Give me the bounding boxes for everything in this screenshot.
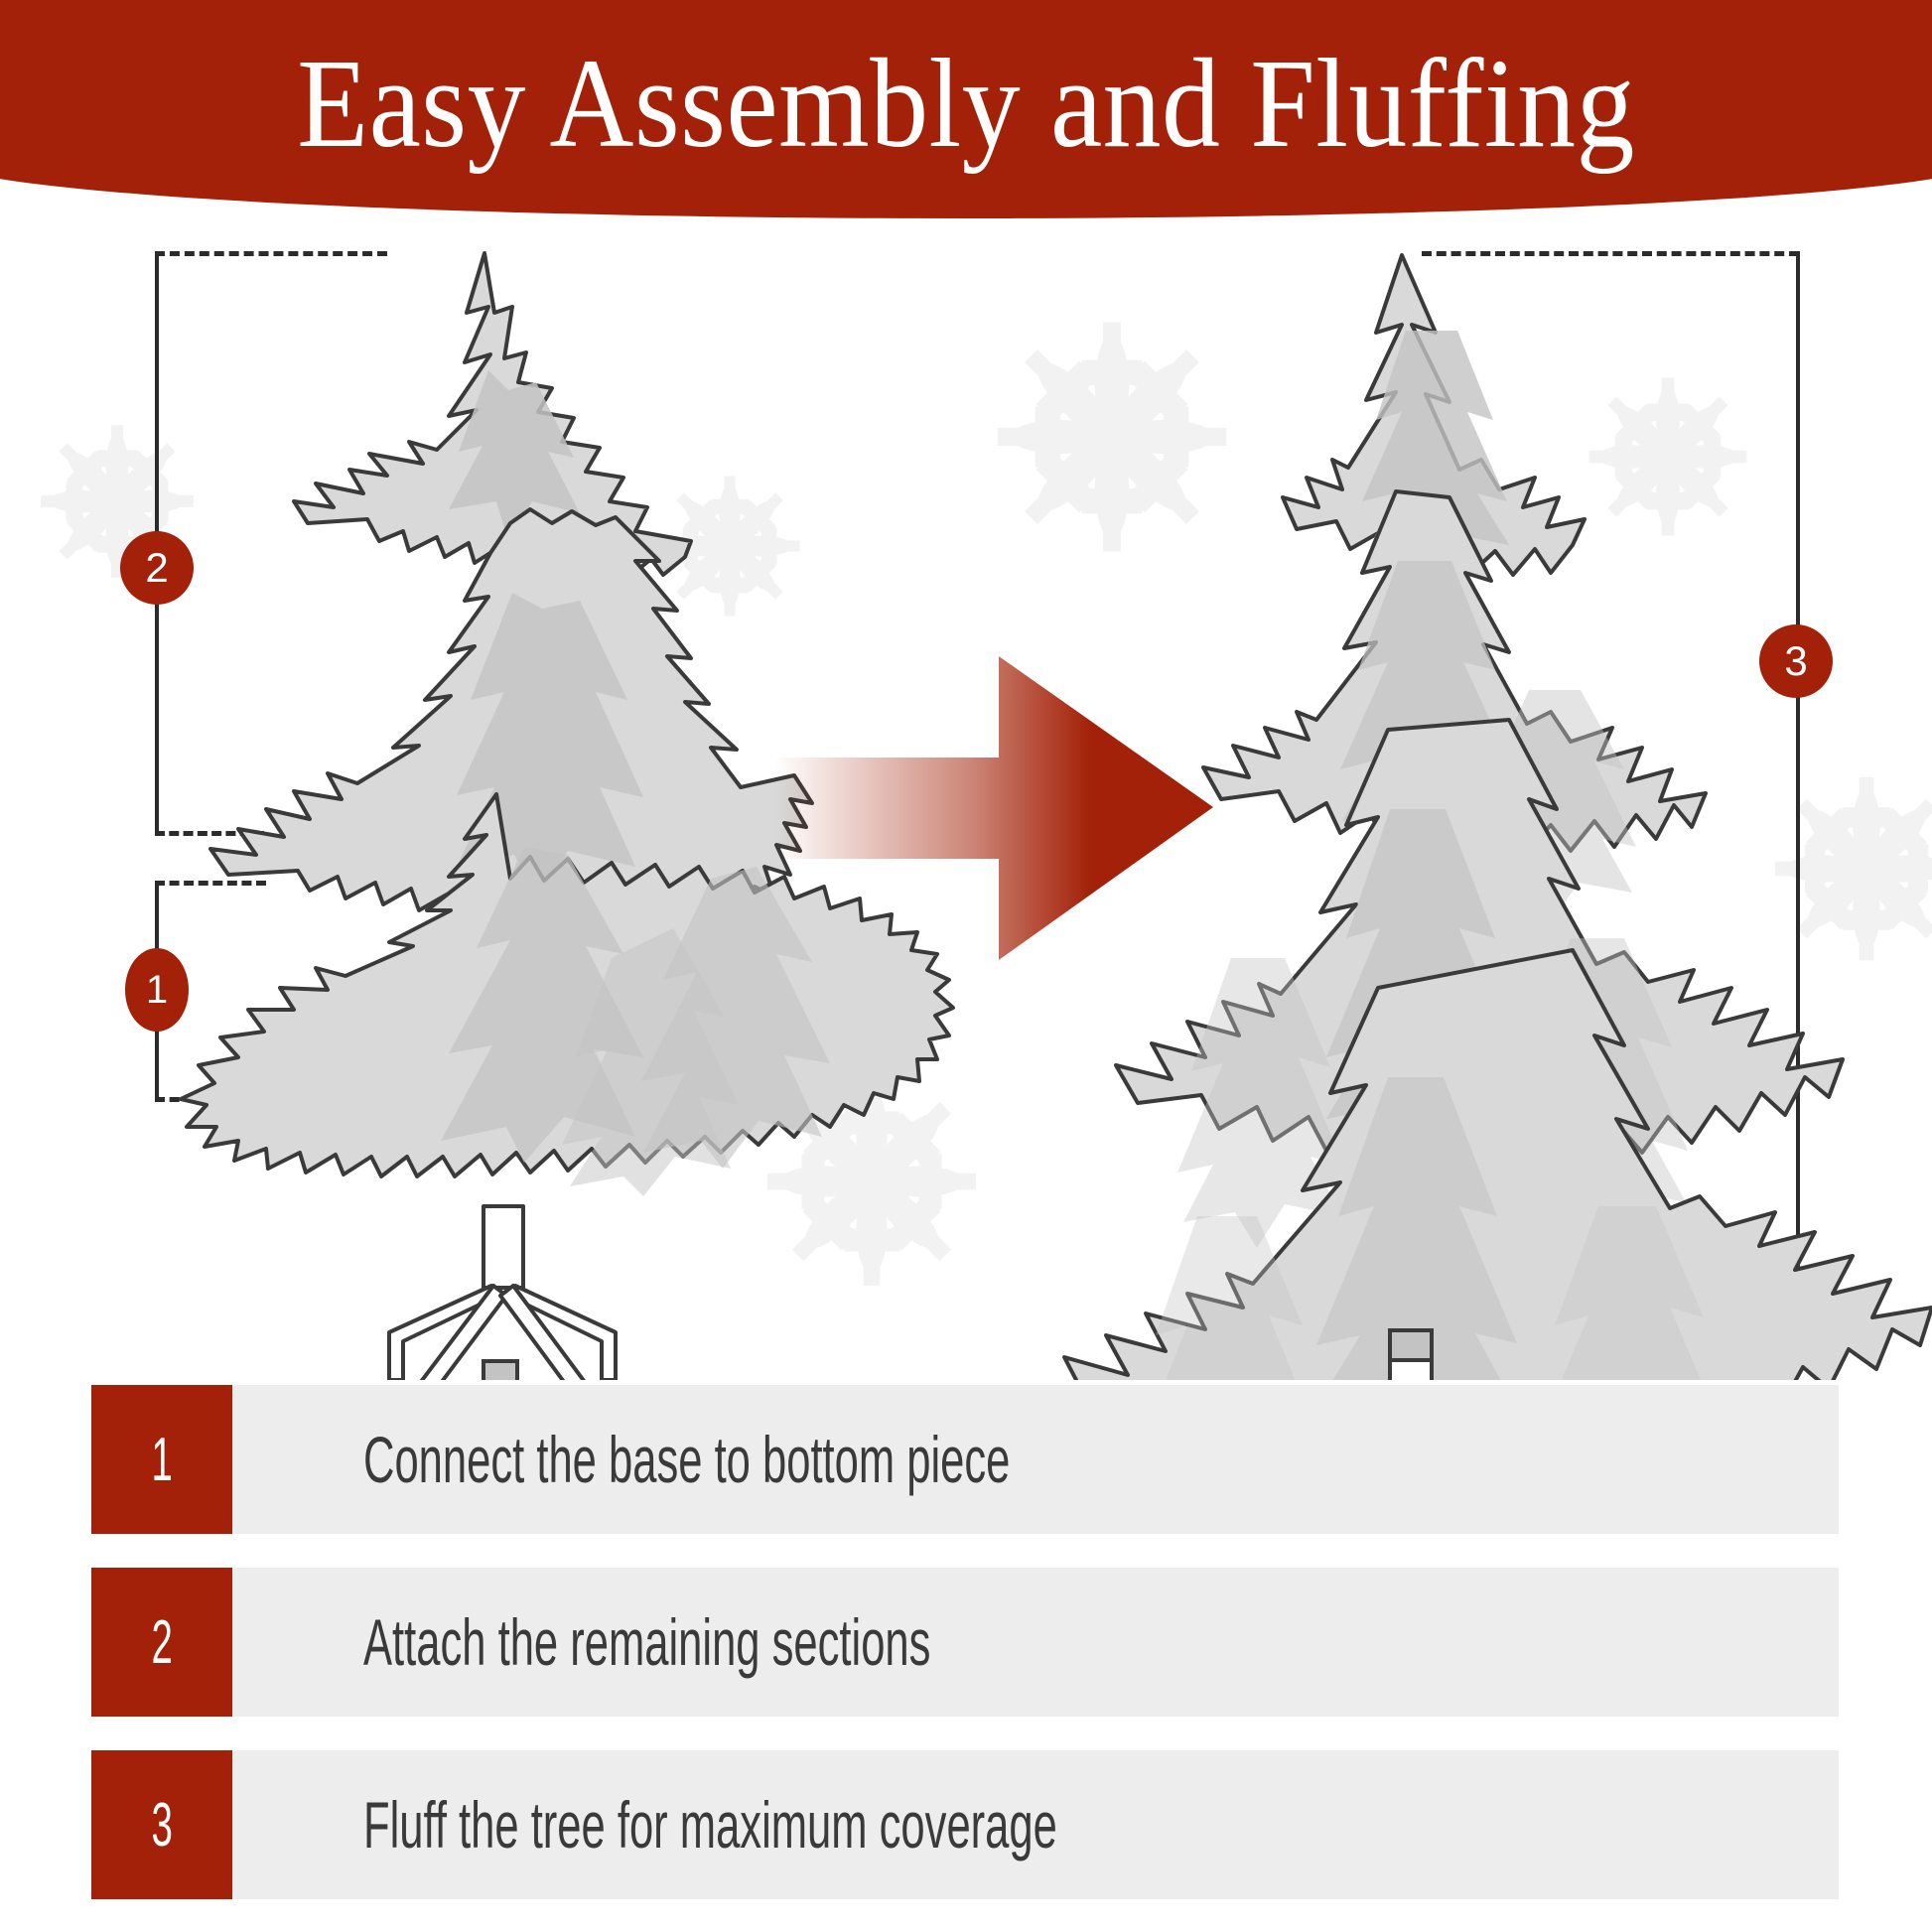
step-text-3: Fluff the tree for maximum coverage xyxy=(363,1787,1057,1863)
bracket-badge-1-label: 1 xyxy=(146,968,168,1013)
infographic-canvas: Easy Assembly and Fluffing xyxy=(0,0,1932,1932)
bracket-badge-2: 2 xyxy=(120,531,194,605)
page-title: Easy Assembly and Fluffing xyxy=(23,0,1910,218)
assembled-fluffed-tree xyxy=(0,204,1932,1380)
step-number-1: 1 xyxy=(151,1425,172,1495)
step-number-badge-1: 1 xyxy=(91,1385,232,1534)
step-number-3: 3 xyxy=(151,1790,172,1861)
step-text-container-1: Connect the base to bottom piece xyxy=(232,1385,1839,1534)
step-number-badge-3: 3 xyxy=(91,1750,232,1899)
step-text-container-2: Attach the remaining sections xyxy=(232,1568,1839,1717)
full-tree-body xyxy=(834,253,1932,1380)
step-text-2: Attach the remaining sections xyxy=(363,1604,930,1680)
step-number-2: 2 xyxy=(151,1607,172,1678)
assembly-diagram: 2 1 3 xyxy=(0,204,1932,1380)
step-row: 3 Fluff the tree for maximum coverage xyxy=(91,1750,1839,1899)
step-text-1: Connect the base to bottom piece xyxy=(363,1422,1010,1497)
step-number-badge-2: 2 xyxy=(91,1568,232,1717)
bracket-badge-3-label: 3 xyxy=(1784,637,1807,685)
step-row: 1 Connect the base to bottom piece xyxy=(91,1385,1839,1534)
step-row: 2 Attach the remaining sections xyxy=(91,1568,1839,1717)
bracket-badge-2-label: 2 xyxy=(145,544,168,592)
header-banner: Easy Assembly and Fluffing xyxy=(0,0,1932,218)
bracket-badge-1: 1 xyxy=(125,948,189,1032)
bracket-badge-3: 3 xyxy=(1759,624,1833,698)
step-text-container-3: Fluff the tree for maximum coverage xyxy=(232,1750,1839,1899)
steps-list: 1 Connect the base to bottom piece 2 Att… xyxy=(91,1385,1839,1932)
